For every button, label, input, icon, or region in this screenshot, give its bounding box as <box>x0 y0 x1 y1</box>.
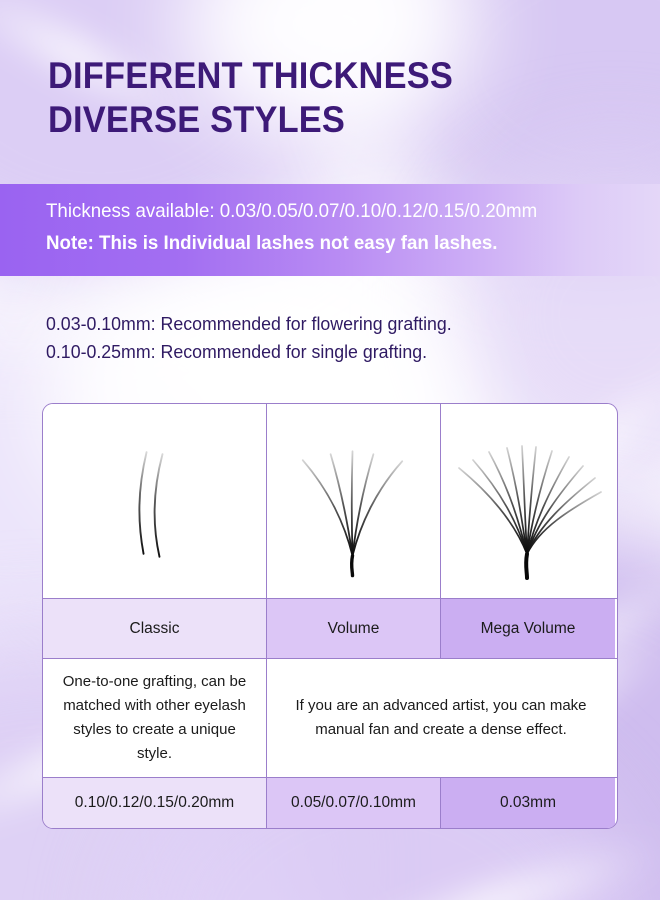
classic-lash-icon <box>43 404 266 598</box>
description-cell-volume-mega: If you are an advanced artist, you can m… <box>267 659 615 777</box>
mega-volume-image-cell <box>441 404 615 598</box>
classic-image-cell <box>43 404 267 598</box>
label-cell-mega-volume: Mega Volume <box>441 599 615 658</box>
description-cell-classic: One-to-one grafting, can be matched with… <box>43 659 267 777</box>
table-row-thickness: 0.10/0.12/0.15/0.20mm 0.05/0.07/0.10mm 0… <box>43 777 617 828</box>
recommendation-text: 0.03-0.10mm: Recommended for flowering g… <box>46 310 603 366</box>
volume-image-cell <box>267 404 441 598</box>
label-cell-classic: Classic <box>43 599 267 658</box>
mega-volume-fan-icon <box>441 404 615 598</box>
thickness-cell-mega-volume: 0.03mm <box>441 778 615 828</box>
table-row-images <box>43 404 617 598</box>
table-row-labels: Classic Volume Mega Volume <box>43 598 617 658</box>
thickness-cell-volume: 0.05/0.07/0.10mm <box>267 778 441 828</box>
thickness-available-text: Thickness available: 0.03/0.05/0.07/0.10… <box>46 200 537 223</box>
note-text: Note: This is Individual lashes not easy… <box>46 232 498 255</box>
page-title: DIFFERENT THICKNESS DIVERSE STYLES <box>48 54 587 142</box>
thickness-banner: Thickness available: 0.03/0.05/0.07/0.10… <box>0 184 660 276</box>
lash-style-table: Classic Volume Mega Volume One-to-one gr… <box>42 403 618 829</box>
volume-fan-icon <box>267 404 440 598</box>
thickness-cell-classic: 0.10/0.12/0.15/0.20mm <box>43 778 267 828</box>
table-row-descriptions: One-to-one grafting, can be matched with… <box>43 658 617 777</box>
label-cell-volume: Volume <box>267 599 441 658</box>
